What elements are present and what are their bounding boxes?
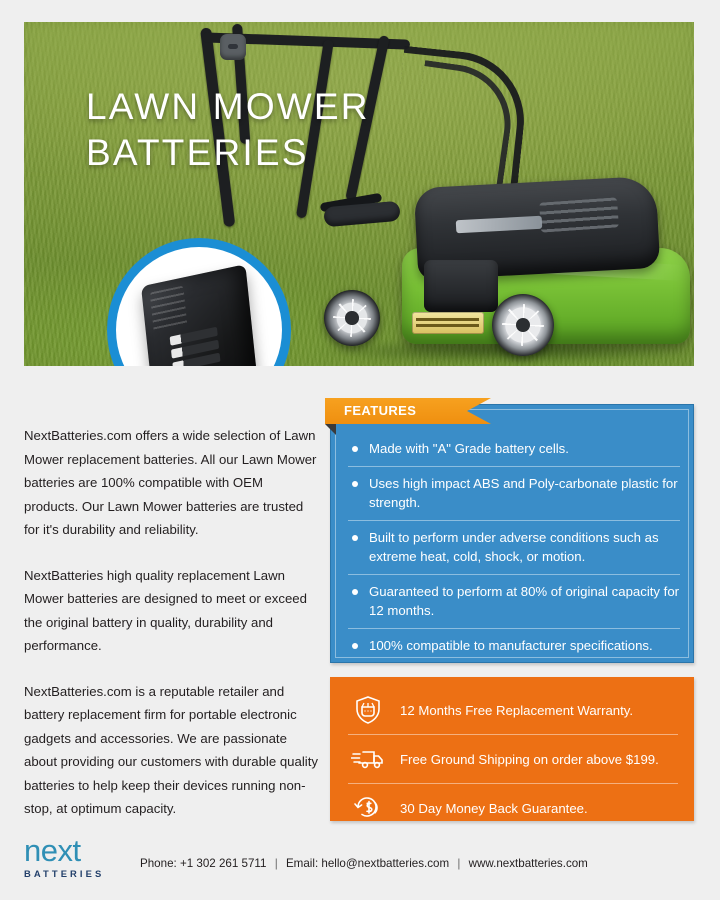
email-text[interactable]: Email: hello@nextbatteries.com — [286, 857, 449, 870]
logo-subtitle: BATTERIES — [24, 868, 128, 879]
separator: | — [270, 857, 283, 870]
feature-item: 100% compatible to manufacturer specific… — [348, 629, 680, 663]
hero-title: LAWN MOWER BATTERIES — [86, 84, 370, 176]
phone-text: Phone: +1 302 261 5711 — [140, 857, 266, 870]
guarantee-text: Free Ground Shipping on order above $199… — [400, 750, 659, 769]
logo-wordmark: next — [24, 835, 128, 866]
guarantee-item: Free Ground Shipping on order above $199… — [348, 735, 678, 784]
mower-rear-wheel — [324, 290, 380, 346]
mower-front-wheel — [492, 294, 554, 356]
about-paragraph: NextBatteries.com offers a wide selectio… — [24, 424, 320, 542]
mower-handle-clamp — [220, 34, 246, 60]
features-panel: Made with "A" Grade battery cells. Uses … — [330, 404, 694, 663]
feature-text: Built to perform under adverse condition… — [369, 528, 680, 567]
money-back-icon — [348, 791, 388, 825]
hero-banner: LAWN MOWER BATTERIES — [24, 22, 694, 366]
guarantee-box: 12 Months Free Replacement Warranty. Fre… — [330, 677, 694, 821]
feature-item: Made with "A" Grade battery cells. — [348, 432, 680, 467]
mower-battery-compartment — [424, 260, 498, 312]
feature-item: Built to perform under adverse condition… — [348, 521, 680, 575]
about-paragraph: NextBatteries high quality replacement L… — [24, 564, 320, 658]
contact-bar: Phone: +1 302 261 5711 | Email: hello@ne… — [140, 857, 588, 870]
feature-item: Guaranteed to perform at 80% of original… — [348, 575, 680, 629]
separator: | — [452, 857, 465, 870]
feature-item: Uses high impact ABS and Poly-carbonate … — [348, 467, 680, 521]
bullet-icon — [352, 535, 358, 541]
wheel-hub — [345, 311, 358, 324]
mower-hood-vents — [539, 197, 619, 232]
website-link[interactable]: www.nextbatteries.com — [469, 857, 588, 870]
page-footer: next BATTERIES Phone: +1 302 261 5711 | … — [0, 833, 720, 893]
feature-text: Made with "A" Grade battery cells. — [369, 439, 569, 459]
features-ribbon: FEATURES — [325, 398, 467, 424]
bullet-icon — [352, 643, 358, 649]
feature-text: Uses high impact ABS and Poly-carbonate … — [369, 474, 680, 513]
features-list: Made with "A" Grade battery cells. Uses … — [348, 432, 680, 662]
guarantee-item: 30 Day Money Back Guarantee. — [348, 784, 678, 832]
bullet-icon — [352, 589, 358, 595]
brand-logo[interactable]: next BATTERIES — [24, 835, 128, 879]
about-paragraph: NextBatteries.com is a reputable retaile… — [24, 680, 320, 821]
feature-text: 100% compatible to manufacturer specific… — [369, 636, 653, 656]
mower-warning-sticker — [412, 312, 484, 334]
delivery-truck-icon — [348, 742, 388, 776]
flyer-page: LAWN MOWER BATTERIES NextBatteries.com o… — [0, 0, 720, 900]
guarantee-item: 12 Months Free Replacement Warranty. — [348, 686, 678, 735]
about-text-column: NextBatteries.com offers a wide selectio… — [24, 424, 320, 843]
features-heading: FEATURES — [344, 403, 416, 418]
bullet-icon — [352, 481, 358, 487]
guarantee-text: 12 Months Free Replacement Warranty. — [400, 701, 633, 720]
guarantee-text: 30 Day Money Back Guarantee. — [400, 799, 588, 818]
guarantee-list: 12 Months Free Replacement Warranty. Fre… — [348, 686, 678, 832]
shield-check-icon — [348, 693, 388, 727]
bullet-icon — [352, 446, 358, 452]
feature-text: Guaranteed to perform at 80% of original… — [369, 582, 680, 621]
